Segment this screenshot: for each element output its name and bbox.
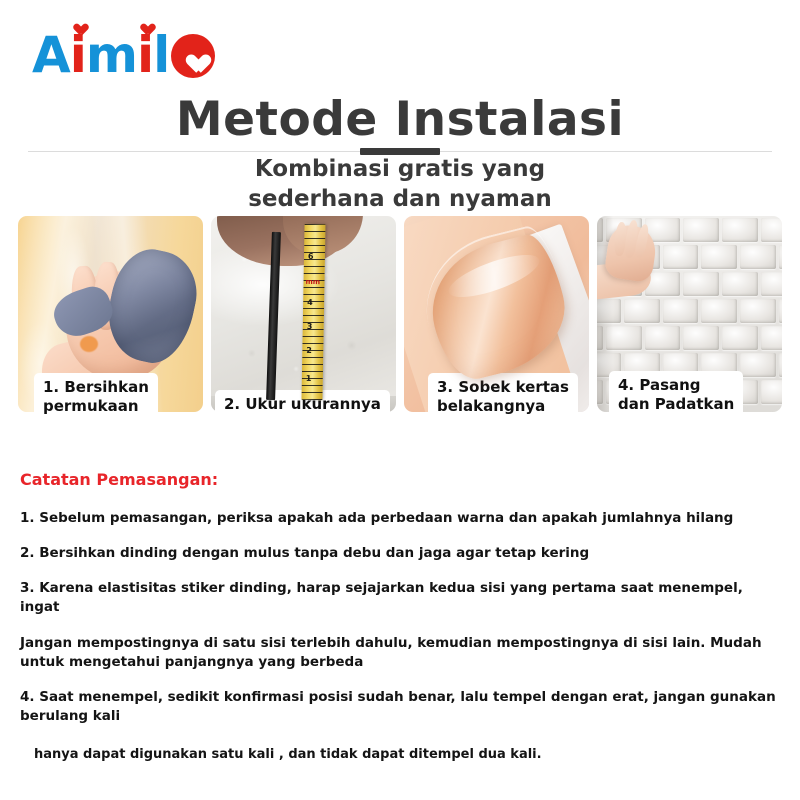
heart-icon-dot-1 bbox=[71, 19, 84, 31]
step-2-image: 6 mm 4 3 2 1 bbox=[211, 216, 396, 412]
steps-gallery: 1. Bersihkan permukaan 6 mm 4 3 2 1 2. U… bbox=[18, 216, 782, 412]
brick-row-4 bbox=[597, 299, 782, 323]
tape-mark-6: 6 bbox=[308, 252, 314, 261]
step-4-label: 4. Pasang dan Padatkan bbox=[609, 371, 743, 420]
thumb-accent bbox=[80, 336, 98, 352]
logo-letter-a: A bbox=[32, 30, 70, 80]
logo-letter-l: l bbox=[153, 30, 169, 80]
note-item-2: 2. Bersihkan dinding dengan mulus tanpa … bbox=[20, 544, 782, 563]
page-subtitle-line1: Kombinasi gratis yang bbox=[0, 154, 800, 184]
page-subtitle-line2: sederhana dan nyaman bbox=[0, 184, 800, 214]
step-panel-1: 1. Bersihkan permukaan bbox=[18, 216, 203, 412]
brand-logo-text: A i m i l bbox=[32, 30, 215, 80]
tape-mark-1: 1 bbox=[306, 374, 312, 383]
note-item-1: 1. Sebelum pemasangan, periksa apakah ad… bbox=[20, 509, 782, 528]
step-1-label: 1. Bersihkan permukaan bbox=[34, 373, 158, 422]
logo-letter-i-2-stem: i bbox=[137, 26, 153, 84]
note-item-3: 3. Karena elastisitas stiker dinding, ha… bbox=[20, 579, 782, 617]
tape-mark-red: mm bbox=[305, 278, 320, 286]
tape-mark-3: 3 bbox=[307, 322, 313, 331]
brick-row-5 bbox=[597, 326, 782, 350]
tape-mark-4: 4 bbox=[307, 298, 313, 307]
step-panel-3: 3. Sobek kertas belakangnya bbox=[404, 216, 589, 412]
step-panel-2: 6 mm 4 3 2 1 2. Ukur ukurannya bbox=[211, 216, 396, 412]
note-item-4: 4. Saat menempel, sedikit konfirmasi pos… bbox=[20, 688, 782, 726]
notes-heading: Catatan Pemasangan: bbox=[20, 470, 782, 489]
installation-notes: Catatan Pemasangan: 1. Sebelum pemasanga… bbox=[20, 470, 782, 764]
logo-letter-m: m bbox=[86, 30, 137, 80]
logo-letter-i-2: i bbox=[137, 30, 153, 80]
heart-icon-in-o bbox=[182, 47, 204, 67]
logo-letter-i-1: i bbox=[70, 30, 86, 80]
title-divider bbox=[28, 151, 772, 152]
notes-footer: hanya dapat digunakan satu kali , dan ti… bbox=[20, 746, 782, 764]
step-3-label: 3. Sobek kertas belakangnya bbox=[428, 373, 578, 422]
logo-letter-i-1-stem: i bbox=[70, 26, 86, 84]
page-subtitle: Kombinasi gratis yang sederhana dan nyam… bbox=[0, 154, 800, 215]
heart-icon-dot-2 bbox=[139, 19, 152, 31]
tape-measure: 6 mm 4 3 2 1 bbox=[301, 224, 325, 400]
brand-logo: A i m i l bbox=[32, 24, 215, 86]
logo-letter-o bbox=[171, 34, 215, 78]
step-panel-4: 4. Pasang dan Padatkan bbox=[597, 216, 782, 412]
page-title: Metode Instalasi bbox=[0, 92, 800, 147]
tape-mark-2: 2 bbox=[306, 346, 312, 355]
note-item-3-continued: Jangan mempostingnya di satu sisi terleb… bbox=[20, 634, 782, 672]
